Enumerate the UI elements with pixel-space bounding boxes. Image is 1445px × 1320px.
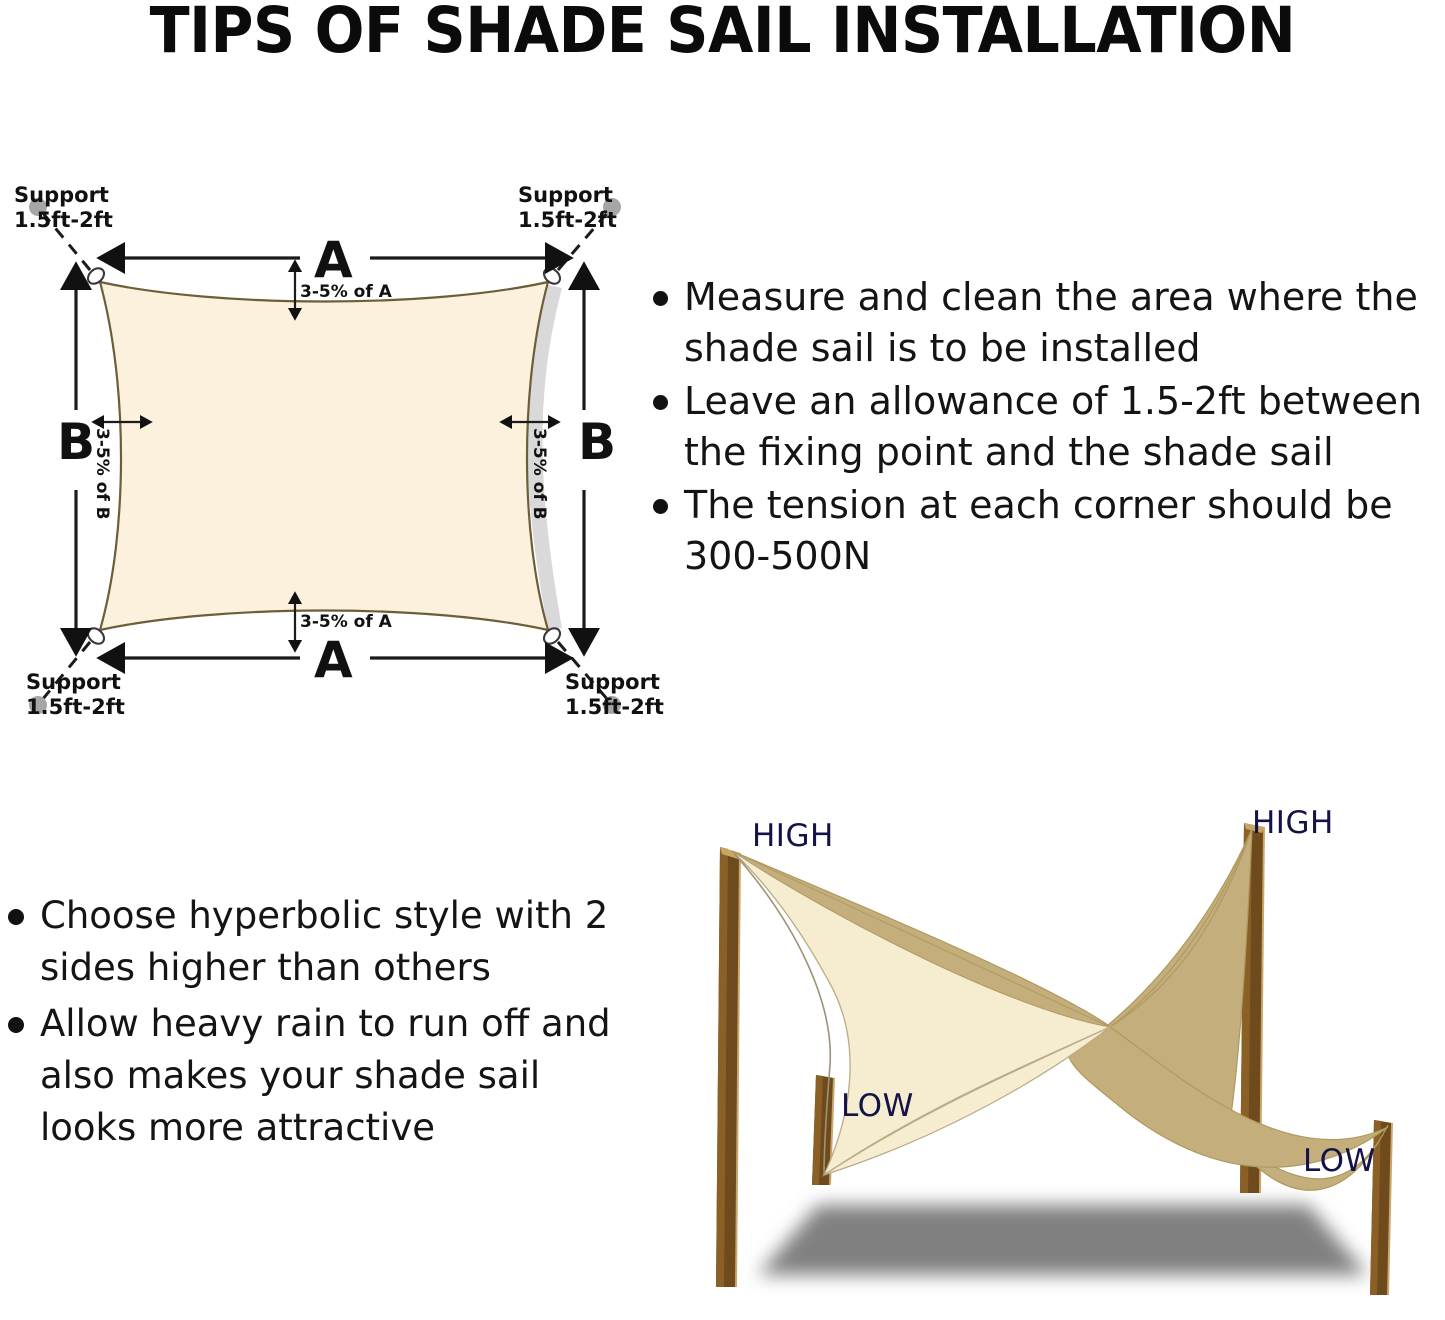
shade-sail-body	[100, 282, 548, 630]
list-item: The tension at each corner should be 300…	[653, 480, 1445, 582]
bullet-dot-icon	[8, 909, 24, 925]
label-low-right: LOW	[1303, 1143, 1376, 1179]
support-label-line1: Support	[14, 183, 113, 208]
support-label-line1: Support	[26, 670, 125, 695]
installation-tips-list: Measure and clean the area where the sha…	[653, 272, 1445, 584]
sag-label-right: 3-5% of B	[529, 428, 549, 520]
list-item-text: Choose hyperbolic style with 2 sides hig…	[40, 890, 638, 994]
list-item-text: Leave an allowance of 1.5-2ft between th…	[684, 376, 1445, 478]
support-label-top-left: Support 1.5ft-2ft	[14, 183, 113, 233]
bullet-dot-icon	[653, 499, 668, 514]
bullet-dot-icon	[8, 1017, 24, 1033]
list-item: Measure and clean the area where the sha…	[653, 272, 1445, 374]
list-item-text: Allow heavy rain to run off and also mak…	[40, 998, 638, 1154]
bullet-dot-icon	[653, 291, 668, 306]
post-high-left	[716, 847, 740, 1287]
label-high-right: HIGH	[1252, 805, 1334, 841]
hyperbolic-style-tips-list: Choose hyperbolic style with 2 sides hig…	[8, 890, 638, 1158]
list-item: Leave an allowance of 1.5-2ft between th…	[653, 376, 1445, 478]
dimension-letter-A-top: A	[314, 235, 353, 285]
dimension-letter-B-right: B	[578, 417, 616, 467]
sag-label-bottom: 3-5% of A	[300, 612, 392, 632]
bullet-dot-icon	[653, 395, 668, 410]
support-label-line2: 1.5ft-2ft	[26, 695, 125, 720]
infographic-page: TIPS OF SHADE SAIL INSTALLATION	[0, 0, 1445, 1319]
hyperbolic-sail-diagram-svg	[648, 775, 1445, 1320]
support-label-bottom-left: Support 1.5ft-2ft	[26, 670, 125, 720]
support-label-bottom-right: Support 1.5ft-2ft	[565, 670, 664, 720]
label-low-left: LOW	[841, 1088, 914, 1124]
dimension-letter-A-bottom: A	[314, 635, 353, 685]
page-title: TIPS OF SHADE SAIL INSTALLATION	[51, 0, 1395, 67]
list-item: Allow heavy rain to run off and also mak…	[8, 998, 638, 1154]
support-label-line1: Support	[565, 670, 664, 695]
list-item-text: The tension at each corner should be 300…	[684, 480, 1445, 582]
support-label-line2: 1.5ft-2ft	[518, 208, 617, 233]
support-label-line1: Support	[518, 183, 617, 208]
support-label-top-right: Support 1.5ft-2ft	[518, 183, 617, 233]
ground-shadow	[758, 1205, 1368, 1275]
support-label-line2: 1.5ft-2ft	[565, 695, 664, 720]
list-item-text: Measure and clean the area where the sha…	[684, 272, 1445, 374]
sag-label-top: 3-5% of A	[300, 282, 392, 302]
label-high-left: HIGH	[752, 818, 834, 854]
list-item: Choose hyperbolic style with 2 sides hig…	[8, 890, 638, 994]
sag-label-left: 3-5% of B	[92, 428, 112, 520]
dimension-letter-B-left: B	[57, 417, 95, 467]
support-label-line2: 1.5ft-2ft	[14, 208, 113, 233]
